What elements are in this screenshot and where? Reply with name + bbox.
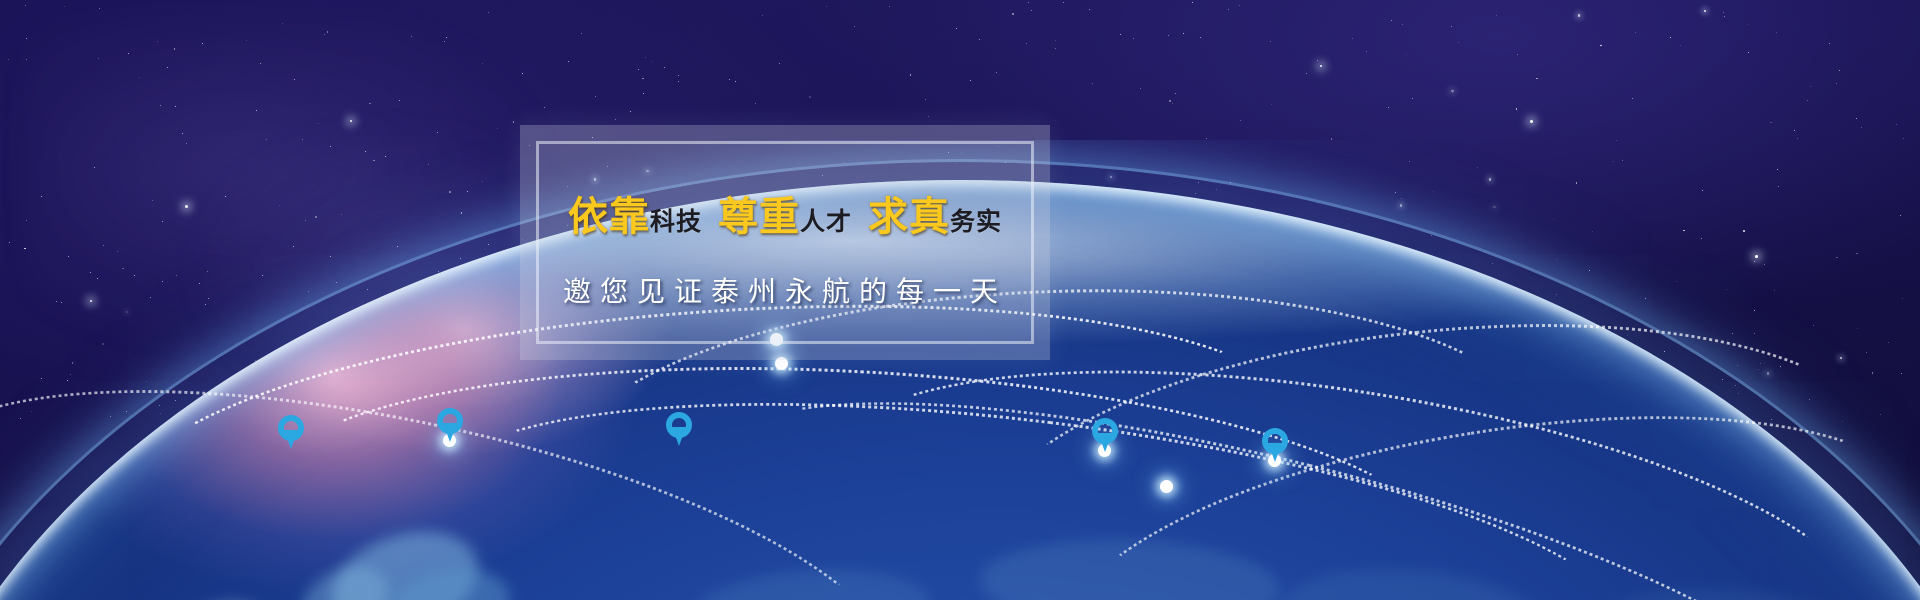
subheadline: 邀您见证泰州永航的每一天 [520, 270, 1050, 310]
slogan-panel: 依靠科技尊重人才求真务实 邀您见证泰州永航的每一天 [520, 125, 1050, 360]
pin-west-atlantic-icon[interactable] [278, 415, 304, 449]
pin-asia-hub-icon[interactable] [1092, 418, 1118, 452]
headline-gold-3: 求真 [868, 193, 950, 240]
headline-dark-2: 人才 [800, 207, 852, 236]
pin-pacific-east-icon[interactable] [1262, 428, 1288, 462]
pin-north-america-icon[interactable] [437, 408, 463, 442]
banner-stage: 依靠科技尊重人才求真务实 邀您见证泰州永航的每一天 [0, 0, 1920, 600]
headline-gold-1: 依靠 [568, 193, 650, 240]
headline-gold-2: 尊重 [718, 193, 800, 240]
slogan-panel-inner-border [536, 141, 1034, 344]
node-south-east [1160, 480, 1173, 493]
pin-mid-ocean-icon[interactable] [666, 412, 692, 446]
headline-dark-3: 务实 [950, 207, 1002, 236]
headline: 依靠科技尊重人才求真务实 [520, 197, 1050, 237]
headline-dark-1: 科技 [650, 207, 702, 236]
